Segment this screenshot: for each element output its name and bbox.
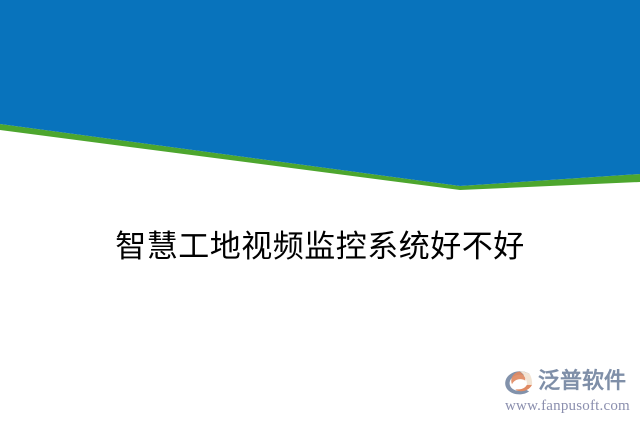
- page-title: 智慧工地视频监控系统好不好: [0, 226, 640, 268]
- brand-name: 泛普软件: [538, 369, 626, 395]
- brand-website-url: www.fanpusoft.com: [505, 397, 630, 415]
- slide-canvas: 智慧工地视频监控系统好不好 泛普软件 www.fanpusoft.com: [0, 0, 640, 427]
- banner-blue-shape: [0, 0, 640, 186]
- brand-logo: 泛普软件 www.fanpusoft.com: [503, 367, 637, 413]
- chevron-banner: [0, 0, 640, 200]
- logo-row: 泛普软件: [503, 367, 626, 397]
- banner-green-stripe: [0, 124, 640, 190]
- fanpu-swoosh-logo-icon: [503, 369, 536, 396]
